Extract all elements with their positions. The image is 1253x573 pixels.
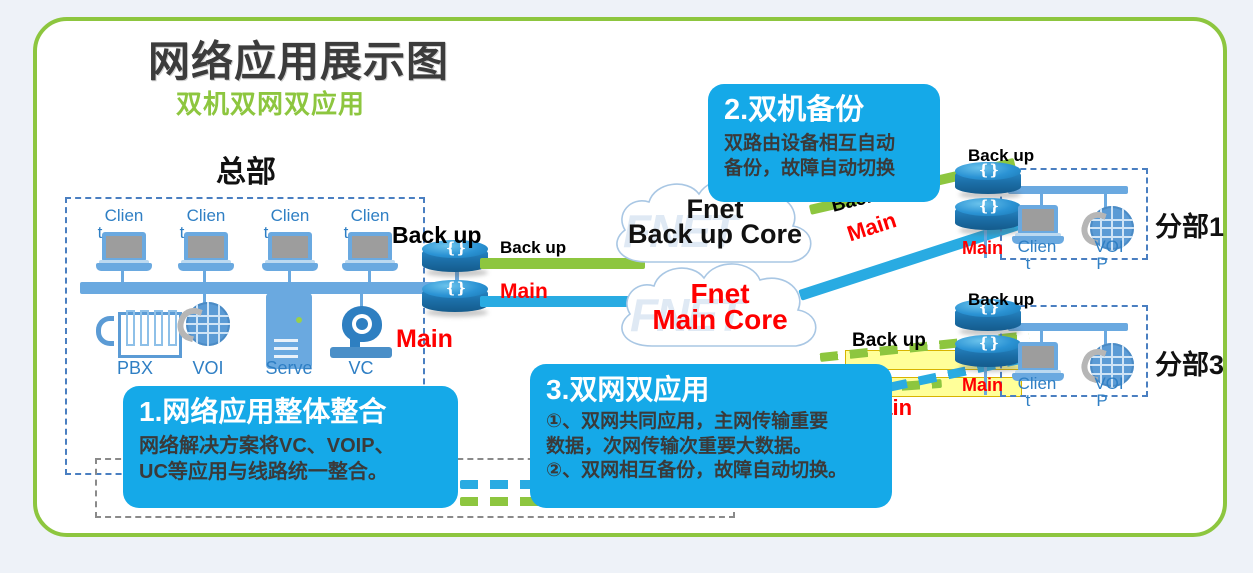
- callout-1-body-line2: UC等应用与线路统一整合。: [139, 459, 444, 485]
- branch1-voip-label: VOI: [1082, 238, 1136, 255]
- voip-globe-icon: [178, 300, 232, 354]
- callout-2-body-line1: 双路由设备相互自动: [724, 132, 926, 157]
- branch1-name: 分部1: [1155, 205, 1224, 244]
- branch3-lan-bus: [1008, 323, 1128, 331]
- client-label-wrap: t: [256, 224, 276, 241]
- branch3-router-backup-label: Back up: [968, 290, 1034, 310]
- voip-label: VOI: [175, 360, 241, 377]
- branch1-client-label: Clien: [1010, 238, 1064, 255]
- branch3-voip-label-wrap: P: [1092, 392, 1112, 409]
- pbx-icon: [96, 306, 188, 362]
- branch3-backup-label: Back up: [852, 330, 926, 352]
- pbx-label: PBX: [100, 360, 170, 377]
- branch3-name: 分部3: [1155, 343, 1224, 382]
- callout-2-title: 2.双机备份: [724, 93, 926, 127]
- client-label: Clien: [262, 207, 318, 224]
- hq-router-main-label: Main: [396, 325, 453, 354]
- router-arrows-icon: ❴❵: [438, 282, 472, 296]
- router-arrows-icon: ❴❵: [971, 200, 1005, 214]
- branch1-lan-bus: [1008, 186, 1128, 194]
- branch1-router-backup-label: Back up: [968, 146, 1034, 166]
- callout-2[interactable]: 2.双机备份 双路由设备相互自动 备份，故障自动切换: [708, 84, 940, 202]
- branch3-client-label-wrap: t: [1018, 392, 1038, 409]
- page-subtitle: 双机双网双应用: [176, 84, 365, 121]
- router-arrows-icon: ❴❵: [971, 337, 1005, 351]
- callout-3-body-line3: ②、双网相互备份，故障自动切换。: [546, 459, 878, 484]
- branch1-backup-router-icon[interactable]: ❴❵: [955, 162, 1021, 198]
- branch3-voip-label: VOI: [1082, 375, 1136, 392]
- headquarters-title: 总部: [216, 147, 276, 191]
- client-label: Clien: [178, 207, 234, 224]
- main-core-line2: Main Core: [600, 306, 840, 335]
- backup-core-line2: Back up Core: [595, 221, 835, 249]
- server-label: Serve: [254, 360, 324, 377]
- client-label: Clien: [96, 207, 152, 224]
- client-label-wrap: t: [336, 224, 356, 241]
- vc-label: VC: [330, 360, 392, 377]
- hq-main-router-icon[interactable]: ❴❵: [422, 280, 488, 316]
- branch1-voip-label-wrap: P: [1092, 255, 1112, 272]
- branch3-router-main-label: Main: [962, 375, 1003, 396]
- callout-3-title: 3.双网双应用: [546, 373, 878, 406]
- client-label-wrap: t: [172, 224, 192, 241]
- callout-3[interactable]: 3.双网双应用 ①、双网共同应用，主网传输重要 数据，次网传输次重要大数据。 ②…: [530, 364, 892, 508]
- hq-router-backup-label: Back up: [392, 222, 481, 249]
- callout-2-body-line2: 备份，故障自动切换: [724, 157, 926, 182]
- callout-1-title: 1.网络应用整体整合: [139, 395, 444, 428]
- callout-1[interactable]: 1.网络应用整体整合 网络解决方案将VC、VOIP、 UC等应用与线路统一整合。: [123, 386, 458, 508]
- page-title: 网络应用展示图: [148, 28, 449, 89]
- hq-backup-link-label: Back up: [500, 238, 566, 258]
- video-conference-icon: [330, 306, 392, 364]
- branch3-client-label: Clien: [1010, 375, 1064, 392]
- main-core-cloud: FNET Fnet Main Core: [600, 250, 840, 365]
- callout-3-body-line1: ①、双网共同应用，主网传输重要: [546, 410, 878, 435]
- branch1-router-main-label: Main: [962, 238, 1003, 259]
- diagram-canvas: 网络应用展示图 双机双网双应用 总部 Clien t Clien t Clien…: [0, 0, 1253, 573]
- client-label: Clien: [342, 207, 398, 224]
- hq-main-link-label: Main: [500, 280, 548, 304]
- headquarters-lan-bus: [80, 282, 440, 294]
- branch1-client-label-wrap: t: [1018, 255, 1038, 272]
- callout-1-body-line1: 网络解决方案将VC、VOIP、: [139, 433, 444, 459]
- router-arrows-icon: ❴❵: [971, 164, 1005, 178]
- callout-3-body-line2: 数据，次网传输次重要大数据。: [546, 435, 878, 460]
- client-label-wrap: t: [90, 224, 110, 241]
